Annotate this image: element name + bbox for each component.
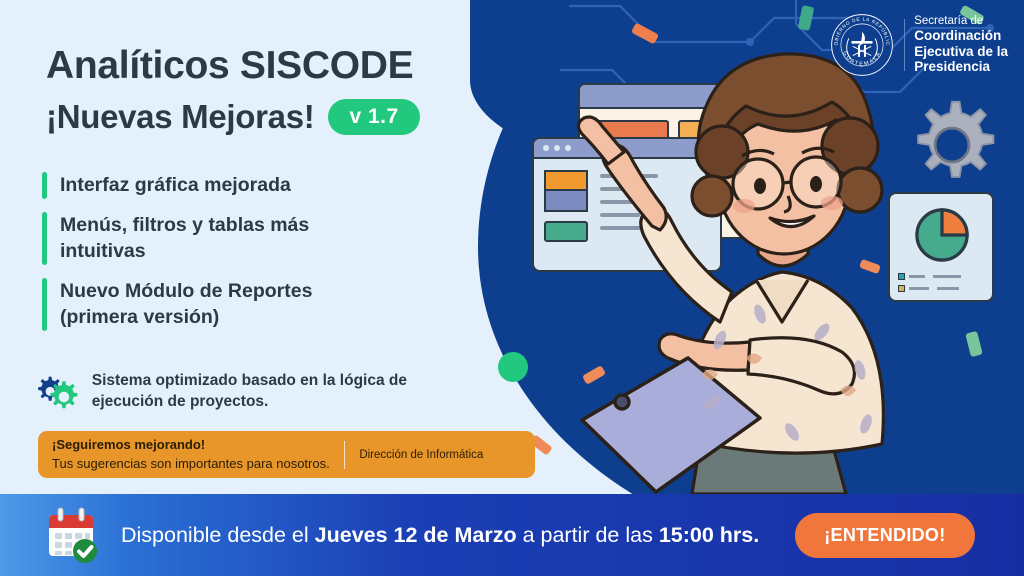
availability-text: Disponible desde el Jueves 12 de Marzo a…: [121, 523, 759, 548]
callout-headline: ¡Seguiremos mejorando!: [52, 436, 330, 454]
logo-divider: [904, 19, 905, 71]
callout-box: ¡Seguiremos mejorando! Tus sugerencias s…: [38, 431, 535, 478]
availability-prefix: Disponible desde el: [121, 523, 315, 547]
bullet-bar: [42, 278, 47, 331]
list-item: Menús, filtros y tablas más intuitivas: [42, 212, 442, 265]
logo-line-2: Coordinación: [914, 28, 1008, 44]
feature-label: Interfaz gráfica mejorada: [60, 172, 291, 199]
bullet-bar: [42, 172, 47, 199]
feature-label: Nuevo Módulo de Reportes (primera versió…: [60, 278, 390, 331]
page-title: Analíticos SISCODE: [46, 44, 413, 88]
page-subtitle: ¡Nuevas Mejoras!: [46, 98, 314, 136]
woman-illustration: [560, 40, 1000, 494]
government-logo: GOBIERNO DE LA REPÚBLICA GUATEMALA Secre…: [829, 12, 1008, 78]
feature-list: Interfaz gráfica mejorada Menús, filtros…: [42, 172, 442, 344]
gears-icon: [36, 368, 80, 414]
bottom-bar: Disponible desde el Jueves 12 de Marzo a…: [0, 494, 1024, 576]
window-dot-1: [543, 145, 549, 151]
entendido-button[interactable]: ¡ENTENDIDO!: [795, 513, 974, 558]
poster-canvas: Analíticos SISCODE ¡Nuevas Mejoras! v 1.…: [0, 0, 1024, 576]
calendar-check-icon: [42, 506, 102, 564]
logo-line-4: Presidencia: [914, 59, 1008, 75]
callout-subline: Tus sugerencias son importantes para nos…: [52, 455, 330, 473]
feature-label: Menús, filtros y tablas más intuitivas: [60, 212, 370, 265]
logo-line-1: Secretaría de: [914, 15, 1008, 28]
confetti-green-5: [498, 352, 528, 382]
list-item: Interfaz gráfica mejorada: [42, 172, 442, 199]
list-item: Nuevo Módulo de Reportes (primera versió…: [42, 278, 442, 331]
optimization-note: Sistema optimizado basado en la lógica d…: [36, 368, 466, 414]
subtitle-row: ¡Nuevas Mejoras! v 1.7: [46, 98, 420, 136]
availability-time: 15:00 hrs.: [659, 523, 759, 547]
version-badge: v 1.7: [328, 99, 419, 135]
availability-middle: a partir de las: [517, 523, 659, 547]
availability-date: Jueves 12 de Marzo: [315, 523, 517, 547]
logo-text-block: Secretaría de Coordinación Ejecutiva de …: [914, 15, 1008, 75]
optimization-label: Sistema optimizado basado en la lógica d…: [92, 370, 466, 413]
callout-text-group: ¡Seguiremos mejorando! Tus sugerencias s…: [52, 436, 330, 473]
callout-department: Dirección de Informática: [359, 449, 483, 461]
callout-divider: [344, 441, 346, 469]
logo-line-3: Ejecutiva de la: [914, 44, 1008, 60]
guatemala-seal-icon: GOBIERNO DE LA REPÚBLICA GUATEMALA: [829, 12, 895, 78]
bullet-bar: [42, 212, 47, 265]
